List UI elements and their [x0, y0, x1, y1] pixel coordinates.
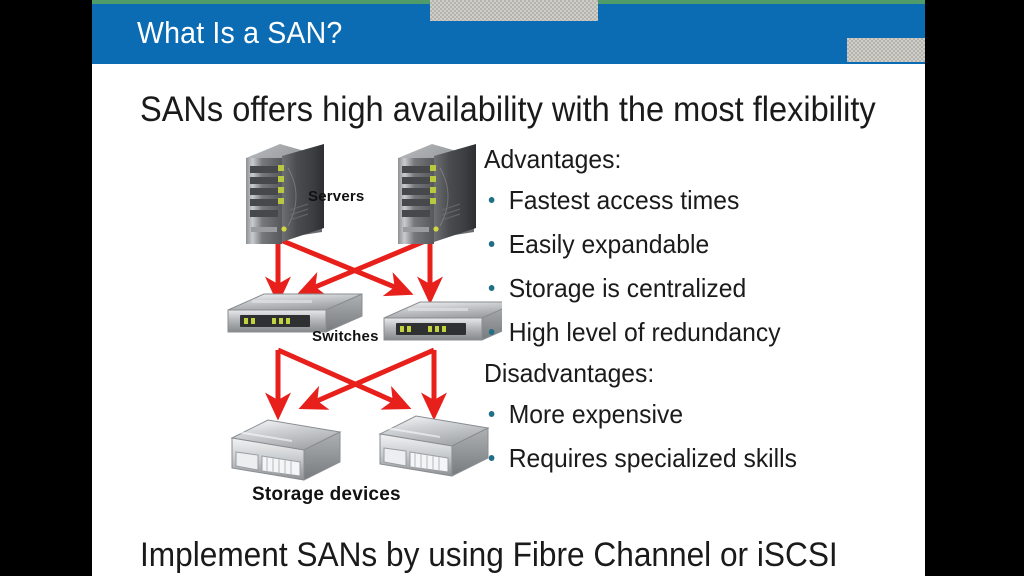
advantages-disadvantages-column: Advantages: Fastest access times Easily …: [484, 140, 914, 480]
video-frame: What Is a SAN? SANs offers high availabi…: [0, 0, 1024, 576]
bullet-dot-icon: [489, 411, 495, 417]
list-item-label: Fastest access times: [509, 185, 740, 215]
advantages-heading: Advantages:: [484, 140, 893, 178]
list-item: High level of redundancy: [484, 310, 893, 354]
storage-array-icon-left: [232, 420, 340, 480]
bullet-dot-icon: [489, 197, 495, 203]
bullet-dot-icon: [489, 241, 495, 247]
storage-array-icon-right: [380, 416, 488, 476]
checker-block-top-overlay: [430, 0, 598, 21]
diagram-label-storage-devices: Storage devices: [252, 484, 401, 506]
disadvantages-heading: Disadvantages:: [484, 354, 893, 392]
list-item: Storage is centralized: [484, 266, 893, 310]
list-item: Requires specialized skills: [484, 436, 893, 480]
network-switch-icon-left: [228, 294, 362, 332]
list-item-label: Storage is centralized: [509, 273, 747, 303]
slide-title: What Is a SAN?: [137, 15, 342, 51]
bullet-dot-icon: [489, 285, 495, 291]
diagram-arrows: [112, 132, 502, 522]
diagram-label-switches: Switches: [312, 328, 379, 345]
checker-block-right-overlay: [847, 38, 925, 62]
list-item-label: High level of redundancy: [509, 317, 781, 347]
server-tower-icon-right: [398, 144, 476, 244]
slide-footer-line: Implement SANs by using Fibre Channel or…: [140, 534, 875, 576]
san-topology-diagram: Servers Switches Storage devices: [112, 132, 502, 522]
slide-headline: SANs offers high availability with the m…: [140, 88, 847, 132]
list-item: Easily expandable: [484, 222, 893, 266]
bullet-dot-icon: [489, 455, 495, 461]
title-bar-underline: [92, 62, 925, 64]
arrows-switches-to-storage: [278, 350, 434, 408]
bullet-dot-icon: [489, 329, 495, 335]
arrows-servers-to-switches: [278, 239, 430, 292]
list-item: Fastest access times: [484, 178, 893, 222]
list-item-label: Easily expandable: [509, 229, 709, 259]
list-item-label: More expensive: [509, 399, 683, 429]
list-item: More expensive: [484, 392, 893, 436]
diagram-label-servers: Servers: [308, 188, 364, 205]
list-item-label: Requires specialized skills: [509, 443, 797, 473]
presentation-slide: What Is a SAN? SANs offers high availabi…: [92, 0, 925, 576]
